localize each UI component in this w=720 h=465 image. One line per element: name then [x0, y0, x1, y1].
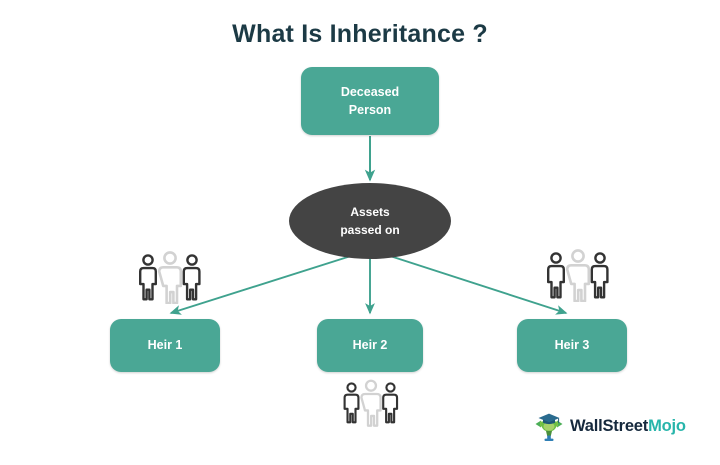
deceased-label-line-1: Deceased — [341, 85, 399, 99]
logo-wordmark: WallStreetMojo — [570, 417, 686, 436]
heir-2-label: Heir 2 — [353, 336, 388, 354]
wallstreetmojo-logo[interactable]: WallStreetMojo — [534, 410, 686, 442]
node-heir-2[interactable]: Heir 2 — [317, 319, 423, 372]
node-assets-passed-on[interactable]: Assets passed on — [289, 183, 451, 259]
heir-1-label: Heir 1 — [148, 336, 183, 354]
node-heir-1[interactable]: Heir 1 — [110, 319, 220, 372]
heir-3-label: Heir 3 — [555, 336, 590, 354]
group-of-people-icon — [135, 251, 205, 304]
node-deceased-person[interactable]: Deceased Person — [301, 67, 439, 135]
page-title: What Is Inheritance ? — [0, 20, 720, 49]
diagram-canvas: What Is Inheritance ? Deceased Person As… — [0, 0, 720, 465]
logo-text-mojo: Mojo — [648, 417, 686, 435]
logo-text-wallstreet: WallStreet — [570, 417, 648, 435]
node-heir-3[interactable]: Heir 3 — [517, 319, 627, 372]
connector-assets-to-heir-3 — [387, 255, 566, 313]
assets-label-line-1: Assets — [350, 205, 389, 219]
wallstreetmojo-mascot-icon — [534, 410, 564, 442]
group-of-people-icon — [340, 379, 402, 427]
group-of-people-icon — [543, 249, 613, 302]
deceased-label-line-2: Person — [349, 103, 391, 117]
assets-label-line-2: passed on — [340, 223, 399, 237]
